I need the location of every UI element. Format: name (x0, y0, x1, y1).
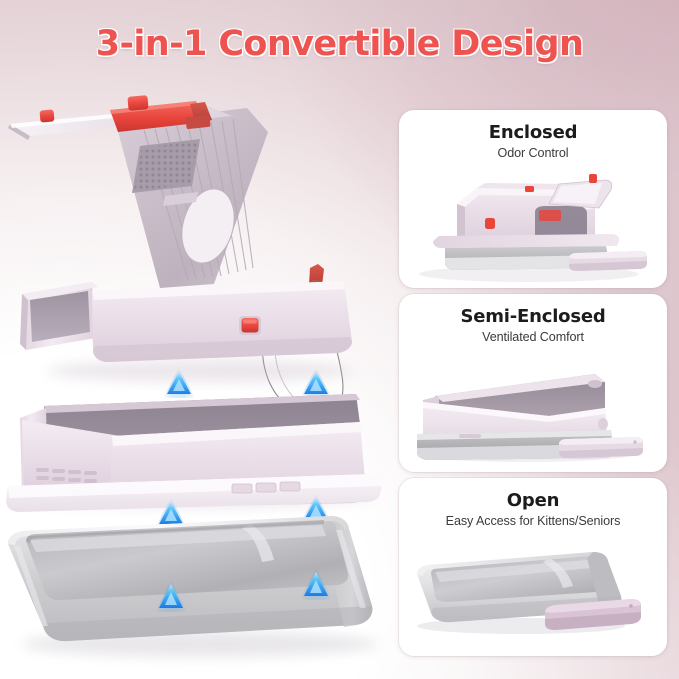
hinge-tabs (232, 482, 300, 493)
mode-panel-list: Enclosed Odor Control (399, 110, 667, 656)
panel-enclosed[interactable]: Enclosed Odor Control (399, 110, 667, 288)
panel-semi-enclosed-title: Semi-Enclosed (399, 307, 667, 327)
hood-latch-button (239, 316, 261, 335)
panel-open-title: Open (399, 491, 667, 511)
exploded-part-steel-tray (8, 516, 378, 657)
panel-open-subtitle: Easy Access for Kittens/Seniors (399, 514, 667, 528)
panel-semi-enclosed[interactable]: Semi-Enclosed Ventilated Comfort (399, 294, 667, 472)
panel-enclosed-subtitle: Odor Control (399, 146, 667, 160)
exploded-product-illustration (0, 88, 396, 668)
infographic-canvas: 3-in-1 Convertible Design (0, 0, 679, 679)
panel-enclosed-title: Enclosed (399, 123, 667, 143)
panel-semi-enclosed-subtitle: Ventilated Comfort (399, 330, 667, 344)
panel-enclosed-artwork (399, 166, 667, 288)
vent-grille (132, 139, 200, 193)
panel-open[interactable]: Open Easy Access for Kittens/Seniors (399, 478, 667, 656)
panel-semi-enclosed-artwork (399, 350, 667, 472)
panel-open-artwork (399, 534, 667, 656)
page-title: 3-in-1 Convertible Design (0, 24, 679, 64)
exploded-part-wall-rim (6, 394, 383, 528)
